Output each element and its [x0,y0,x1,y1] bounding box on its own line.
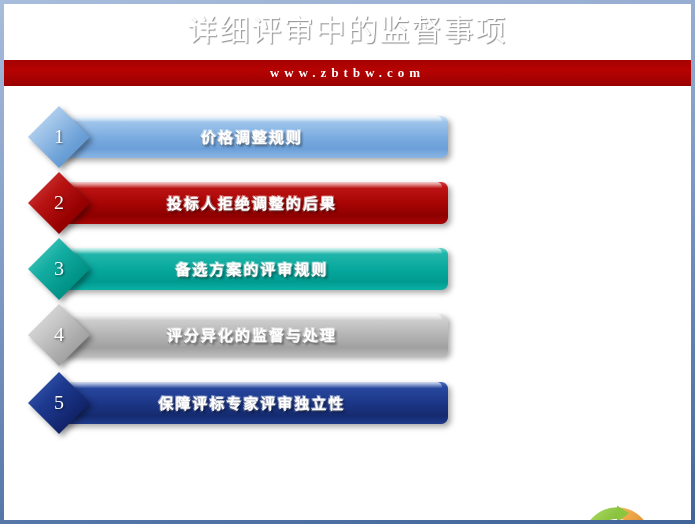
presentation-slide: 详细评审中的监督事项 www.zbtbw.com 1 价格调整规则 2 投标人拒… [0,0,695,524]
list-item[interactable]: 2 投标人拒绝调整的后果 [18,172,438,234]
website-url: www.zbtbw.com [4,60,691,86]
item-number: 5 [28,372,90,434]
list-item[interactable]: 5 保障评标专家评审独立性 [18,372,438,434]
list-item[interactable]: 3 备选方案的评审规则 [18,238,438,300]
item-bar [56,182,448,224]
item-number: 4 [28,304,90,366]
item-bar [56,116,448,158]
item-bar [56,314,448,356]
item-bar [56,382,448,424]
slide-body: 1 价格调整规则 2 投标人拒绝调整的后果 3 备选方案的评审规则 [4,86,691,520]
item-number: 1 [28,106,90,168]
slide-header: 详细评审中的监督事项 [4,4,691,60]
website-band: www.zbtbw.com [4,60,691,86]
item-number: 3 [28,238,90,300]
list-item[interactable]: 4 评分异化的监督与处理 [18,304,438,366]
recycle-arrows-logo [579,504,655,524]
item-number: 2 [28,172,90,234]
list-item[interactable]: 1 价格调整规则 [18,106,438,168]
item-bar [56,248,448,290]
page-title: 详细评审中的监督事项 [4,8,691,56]
